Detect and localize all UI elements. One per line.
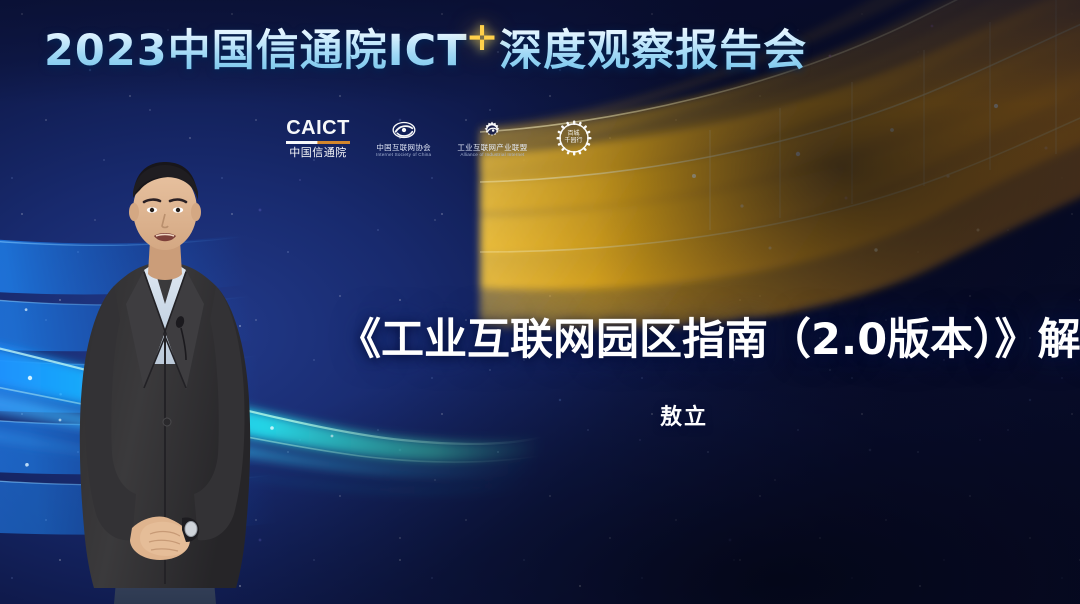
- logo-baicheng-qianyuanxing: 百城 千园行: [554, 118, 594, 158]
- event-banner-title: 2023中国信通院ICT✛深度观察报告会: [44, 16, 807, 78]
- logo-alliance-of-industrial-internet: 工业互联网产业联盟 Alliance of Industrial Interne…: [457, 120, 527, 158]
- logo-aii-en: Alliance of Industrial Internet: [460, 152, 524, 158]
- logo-isc-en: Internet Society of China: [376, 152, 431, 158]
- slide-title: 《工业互联网园区指南（2.0版本）》解读: [338, 305, 1038, 367]
- plus-star-icon: ✛: [468, 19, 498, 59]
- presenter-figure: [40, 154, 290, 604]
- gear-logo-text: 百城 千园行: [554, 118, 594, 158]
- presentation-slide: 2023中国信通院ICT✛深度观察报告会 CAICT 中国信通院 中国互联网协会…: [0, 0, 1080, 604]
- aii-gear-icon: [479, 120, 505, 140]
- logo-caict-rule: [286, 141, 350, 144]
- vignette-overlay: [0, 0, 1080, 604]
- isc-swoosh-icon: [391, 120, 417, 140]
- event-banner-suffix: 深度观察报告会: [499, 26, 807, 76]
- logo-caict: CAICT 中国信通院: [286, 118, 350, 158]
- logo-caict-cn: 中国信通院: [289, 147, 347, 158]
- speaker-name: 敖立: [660, 399, 708, 431]
- starfield-layer-bokeh: [0, 0, 1080, 604]
- logo-internet-society-of-china: 中国互联网协会 Internet Society of China: [376, 120, 431, 158]
- logo-isc-cn: 中国互联网协会: [376, 143, 431, 152]
- logo-aii-cn: 工业互联网产业联盟: [457, 143, 527, 152]
- starfield-layer-small: [0, 0, 1080, 604]
- starfield-layer-medium: [0, 0, 1080, 604]
- event-banner-prefix: 2023中国信通院ICT: [44, 26, 468, 76]
- blue-fan-bands-decoration: [0, 165, 283, 604]
- organizer-logo-row: CAICT 中国信通院 中国互联网协会 Internet Society of …: [286, 118, 594, 158]
- logo-caict-abbr: CAICT: [286, 118, 350, 138]
- gear-logo-line2: 千园行: [565, 138, 583, 145]
